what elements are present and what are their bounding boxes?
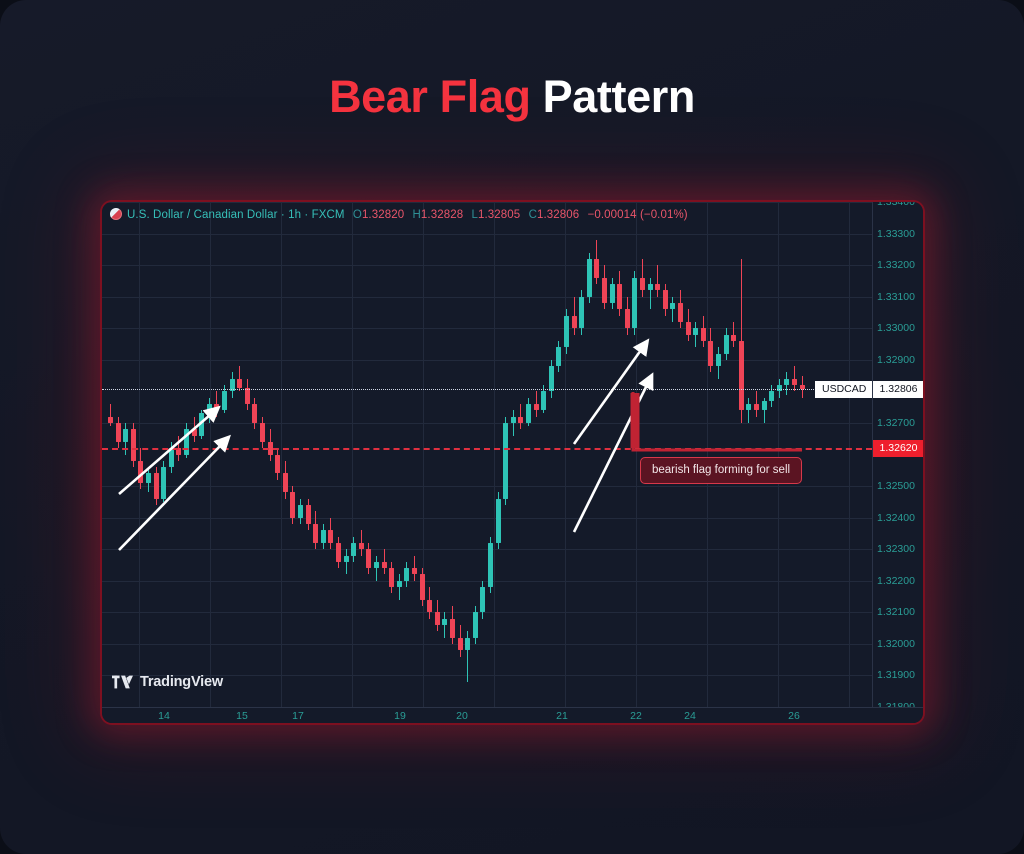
candle-body — [245, 388, 250, 404]
candle-body — [473, 612, 478, 637]
candle-wick — [444, 612, 445, 637]
candle-body — [131, 429, 136, 461]
candle-body — [572, 316, 577, 329]
candle-wick — [513, 410, 514, 435]
candle-wick — [376, 556, 377, 581]
candle-body — [708, 341, 713, 366]
candle-body — [351, 543, 356, 556]
candle-body — [632, 278, 637, 329]
candle-body — [617, 284, 622, 309]
candle-body — [541, 391, 546, 410]
candle-body — [640, 278, 645, 291]
candle-body — [450, 619, 455, 638]
candle-body — [754, 404, 759, 410]
price-axis-tick: 1.32300 — [877, 543, 915, 555]
current-price-line — [102, 389, 872, 390]
candle-body — [222, 391, 227, 410]
gridline-vertical — [352, 202, 353, 707]
page-title-highlight: Bear Flag — [329, 71, 530, 122]
gridline-horizontal — [102, 486, 872, 487]
candle-body — [313, 524, 318, 543]
time-axis-tick: 21 — [556, 710, 568, 722]
candle-body — [602, 278, 607, 303]
candle-body — [442, 619, 447, 625]
candle-body — [138, 461, 143, 483]
gridline-horizontal — [102, 549, 872, 550]
candle-body — [701, 328, 706, 341]
candle-body — [465, 638, 470, 651]
candle-body — [298, 505, 303, 518]
support-price-badge: 1.32620 — [873, 440, 923, 457]
price-axis-tick: 1.32400 — [877, 512, 915, 524]
price-axis-tick: 1.32100 — [877, 606, 915, 618]
support-price-line — [102, 448, 872, 450]
time-axis-tick: 26 — [788, 710, 800, 722]
candle-body — [412, 568, 417, 574]
gridline-horizontal — [102, 581, 872, 582]
chart-gridlines — [102, 202, 872, 707]
legend-high-value: 1.32828 — [421, 209, 463, 221]
candle-body — [784, 379, 789, 385]
candle-body — [678, 303, 683, 322]
legend-sep-1: · — [281, 209, 285, 221]
candle-body — [625, 309, 630, 328]
time-axis-tick: 22 — [630, 710, 642, 722]
candle-body — [306, 505, 311, 524]
gridline-horizontal — [102, 423, 872, 424]
gridline-horizontal — [102, 265, 872, 266]
chart-plot-area[interactable]: U.S. Dollar / Canadian Dollar · 1h · FXC… — [102, 202, 872, 707]
price-axis-tick: 1.33400 — [877, 202, 915, 208]
chart-panel[interactable]: U.S. Dollar / Canadian Dollar · 1h · FXC… — [102, 202, 923, 723]
legend-high-label: H — [413, 209, 421, 221]
candle-body — [724, 335, 729, 354]
candle-body — [283, 473, 288, 492]
candle-body — [693, 328, 698, 334]
gridline-vertical — [778, 202, 779, 707]
candle-body — [397, 581, 402, 587]
candle-body — [427, 600, 432, 613]
candle-body — [663, 290, 668, 309]
candle-body — [503, 423, 508, 499]
candle-body — [154, 473, 159, 498]
candle-body — [108, 417, 113, 423]
candle-body — [328, 530, 333, 543]
gridline-horizontal — [102, 328, 872, 329]
candle-wick — [748, 398, 749, 423]
time-axis-tick: 17 — [292, 710, 304, 722]
candle-body — [116, 423, 121, 442]
candle-body — [648, 284, 653, 290]
candle-body — [587, 259, 592, 297]
price-axis-tick: 1.32900 — [877, 354, 915, 366]
candle-body — [686, 322, 691, 335]
candle-body — [161, 467, 166, 499]
candle-wick — [672, 297, 673, 322]
candle-body — [344, 556, 349, 562]
gridline-horizontal — [102, 518, 872, 519]
price-axis-tick: 1.33100 — [877, 291, 915, 303]
candle-wick — [399, 574, 400, 599]
candle-body — [290, 492, 295, 517]
candle-body — [746, 404, 751, 410]
candle-body — [207, 404, 212, 413]
tradingview-logo-icon — [112, 675, 133, 689]
candle-body — [739, 341, 744, 410]
time-axis-tick: 24 — [684, 710, 696, 722]
legend-change: −0.00014 (−0.01%) — [588, 209, 688, 221]
candle-body — [769, 391, 774, 400]
candle-body — [496, 499, 501, 543]
price-axis-tick: 1.32500 — [877, 480, 915, 492]
gridline-vertical — [707, 202, 708, 707]
page-root: Bear Flag Pattern — [0, 0, 1024, 854]
time-axis[interactable]: 141517192021222426 — [102, 707, 923, 723]
legend-open-label: O — [353, 209, 362, 221]
legend-exchange: FXCM — [312, 209, 345, 221]
candle-body — [518, 417, 523, 423]
candle-body — [184, 429, 189, 454]
legend-open-value: 1.32820 — [362, 209, 404, 221]
candle-body — [534, 404, 539, 410]
candle-body — [359, 543, 364, 549]
time-axis-tick: 19 — [394, 710, 406, 722]
candle-body — [260, 423, 265, 442]
candle-body — [389, 568, 394, 587]
annotation-callout[interactable]: bearish flag forming for sell — [640, 457, 802, 484]
candle-body — [594, 259, 599, 278]
time-axis-tick: 20 — [456, 710, 468, 722]
legend-sep-2: · — [304, 209, 308, 221]
candle-body — [564, 316, 569, 348]
time-axis-tick: 15 — [236, 710, 248, 722]
legend-symbol-name: U.S. Dollar / Canadian Dollar — [127, 209, 278, 221]
candle-body — [146, 473, 151, 482]
legend-close-label: C — [529, 209, 537, 221]
candle-body — [670, 303, 675, 309]
candle-body — [321, 530, 326, 543]
candle-body — [199, 413, 204, 435]
candle-body — [214, 404, 219, 410]
price-axis-tick: 1.32200 — [877, 575, 915, 587]
candle-body — [404, 568, 409, 581]
price-axis-tick: 1.33300 — [877, 228, 915, 240]
symbol-price-badge: USDCAD — [815, 381, 872, 398]
gridline-vertical — [849, 202, 850, 707]
candle-body — [511, 417, 516, 423]
candle-body — [382, 562, 387, 568]
candle-wick — [695, 322, 696, 347]
gridline-vertical — [423, 202, 424, 707]
gridline-horizontal — [102, 297, 872, 298]
gridline-horizontal — [102, 644, 872, 645]
candle-body — [192, 429, 197, 435]
candle-body — [792, 379, 797, 385]
price-axis-tick: 1.31900 — [877, 669, 915, 681]
price-axis-tick: 1.33000 — [877, 322, 915, 334]
legend-low-value: 1.32805 — [478, 209, 520, 221]
candle-body — [526, 404, 531, 423]
candle-body — [458, 638, 463, 651]
gridline-vertical — [494, 202, 495, 707]
candle-body — [762, 401, 767, 410]
price-axis[interactable]: 1.32806 1.32620 1.334001.333001.332001.3… — [872, 202, 923, 707]
candle-body — [731, 335, 736, 341]
candle-wick — [657, 265, 658, 297]
gridline-horizontal — [102, 234, 872, 235]
legend-interval: 1h — [288, 209, 301, 221]
candle-body — [480, 587, 485, 612]
tradingview-label: TradingView — [140, 674, 223, 690]
candle-body — [275, 455, 280, 474]
candle-wick — [650, 278, 651, 310]
candle-body — [549, 366, 554, 391]
price-axis-tick: 1.32700 — [877, 417, 915, 429]
candle-body — [237, 379, 242, 388]
current-price-badge: 1.32806 — [873, 381, 923, 398]
gridline-vertical — [210, 202, 211, 707]
candle-body — [556, 347, 561, 366]
candle-body — [435, 612, 440, 625]
gridline-vertical — [281, 202, 282, 707]
gridline-horizontal — [102, 202, 872, 203]
time-axis-tick: 14 — [158, 710, 170, 722]
candle-body — [655, 284, 660, 290]
chart-legend: U.S. Dollar / Canadian Dollar · 1h · FXC… — [110, 208, 688, 221]
page-title-rest: Pattern — [531, 71, 695, 122]
page-title: Bear Flag Pattern — [0, 74, 1024, 119]
candle-body — [366, 549, 371, 568]
candle-body — [716, 354, 721, 367]
candle-body — [169, 448, 174, 467]
candle-body — [374, 562, 379, 568]
candle-body — [610, 284, 615, 303]
candle-body — [579, 297, 584, 329]
legend-close-value: 1.32806 — [537, 209, 579, 221]
candle-body — [488, 543, 493, 587]
candle-body — [336, 543, 341, 562]
symbol-flag-icon — [110, 208, 122, 220]
price-axis-tick: 1.33200 — [877, 259, 915, 271]
gridline-horizontal — [102, 360, 872, 361]
price-axis-tick: 1.32000 — [877, 638, 915, 650]
tradingview-watermark: TradingView — [112, 674, 223, 690]
gridline-horizontal — [102, 612, 872, 613]
candle-body — [420, 574, 425, 599]
gridline-vertical — [565, 202, 566, 707]
candle-wick — [346, 549, 347, 574]
candle-body — [123, 429, 128, 442]
candle-body — [252, 404, 257, 423]
